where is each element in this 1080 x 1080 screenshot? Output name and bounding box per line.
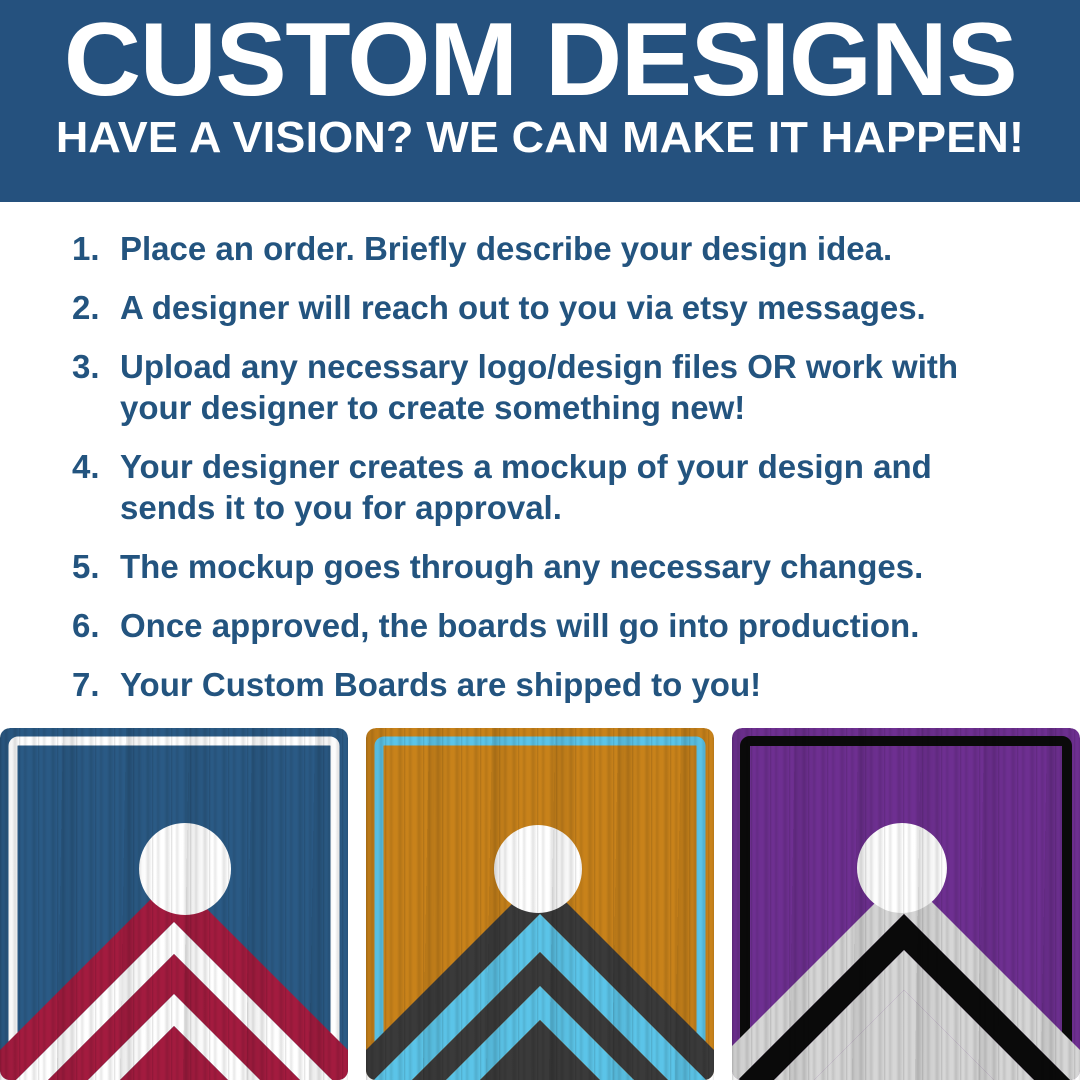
board-2-artwork — [366, 728, 714, 1080]
list-item: 3. Upload any necessary logo/design file… — [72, 346, 1032, 428]
step-number: 5. — [72, 546, 120, 587]
board-3-purple-black — [732, 728, 1080, 1080]
page-title: CUSTOM DESIGNS — [0, 2, 1080, 118]
step-text: A designer will reach out to you via ets… — [120, 287, 1032, 328]
board-gallery — [0, 728, 1080, 1080]
list-item: 5. The mockup goes through any necessary… — [72, 546, 1032, 587]
step-number: 3. — [72, 346, 120, 387]
step-number: 1. — [72, 228, 120, 269]
list-item: 4. Your designer creates a mockup of you… — [72, 446, 1032, 528]
custom-designs-infographic: CUSTOM DESIGNS HAVE A VISION? WE CAN MAK… — [0, 0, 1080, 1080]
list-item: 1. Place an order. Briefly describe your… — [72, 228, 1032, 269]
steps-list: 1. Place an order. Briefly describe your… — [72, 228, 1032, 723]
step-number: 2. — [72, 287, 120, 328]
step-number: 6. — [72, 605, 120, 646]
step-text: Your designer creates a mockup of your d… — [120, 446, 1032, 528]
step-text: Upload any necessary logo/design files O… — [120, 346, 1032, 428]
board-3-artwork — [732, 728, 1080, 1080]
list-item: 7. Your Custom Boards are shipped to you… — [72, 664, 1032, 705]
step-text: Your Custom Boards are shipped to you! — [120, 664, 1032, 705]
board-1-artwork — [0, 728, 348, 1080]
list-item: 6. Once approved, the boards will go int… — [72, 605, 1032, 646]
board-2-orange-lightblue — [366, 728, 714, 1080]
board-1-blue-red — [0, 728, 348, 1080]
step-text: Place an order. Briefly describe your de… — [120, 228, 1032, 269]
step-number: 4. — [72, 446, 120, 487]
step-text: The mockup goes through any necessary ch… — [120, 546, 1032, 587]
step-number: 7. — [72, 664, 120, 705]
step-text: Once approved, the boards will go into p… — [120, 605, 1032, 646]
page-subtitle: HAVE A VISION? WE CAN MAKE IT HAPPEN! — [0, 112, 1080, 164]
header-band: CUSTOM DESIGNS HAVE A VISION? WE CAN MAK… — [0, 0, 1080, 202]
list-item: 2. A designer will reach out to you via … — [72, 287, 1032, 328]
